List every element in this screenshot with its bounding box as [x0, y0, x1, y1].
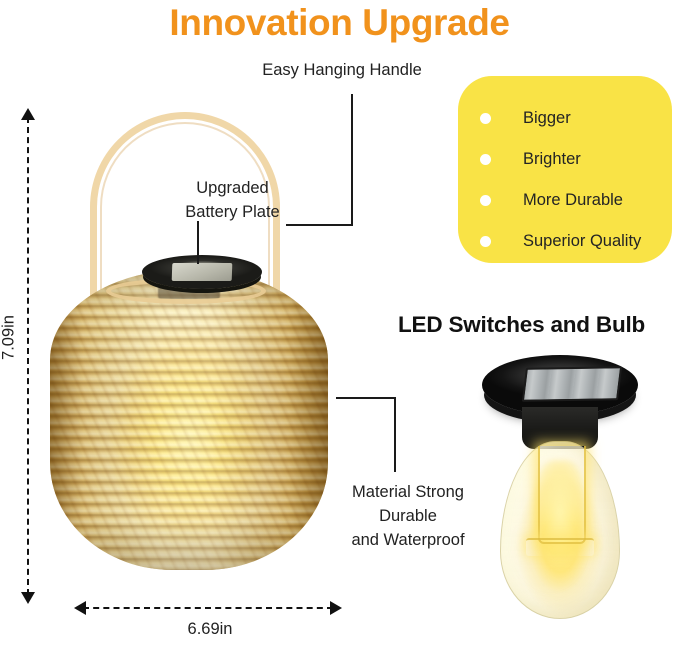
bullet-dot-icon [480, 195, 491, 206]
body-shading [50, 270, 328, 570]
solar-panel-cap [482, 355, 638, 415]
bullet-dot-icon [480, 113, 491, 124]
arrow-down-icon [21, 592, 35, 604]
infographic-canvas: Innovation Upgrade Easy Hanging Handle U… [0, 0, 679, 650]
bulb-filament-base [526, 538, 594, 556]
feature-label: Bigger [523, 109, 571, 128]
height-dimension-line [20, 108, 36, 604]
callout-upgraded-battery-plate: Upgraded Battery Plate [140, 176, 325, 224]
leader-line-hanging-handle-horizontal [286, 224, 353, 226]
feature-label: Brighter [523, 150, 581, 169]
bulb-filament [538, 446, 586, 544]
leader-line-hanging-handle-vertical [351, 94, 353, 226]
leader-line-battery-plate [197, 221, 199, 264]
led-bulb-unit-image [470, 355, 650, 635]
callout-easy-hanging-handle: Easy Hanging Handle [232, 58, 452, 82]
solar-cell-panel [522, 366, 622, 402]
feature-item-bigger: Bigger [458, 98, 672, 139]
leader-line-material-horizontal [336, 397, 396, 399]
bullet-dot-icon [480, 236, 491, 247]
bullet-dot-icon [480, 154, 491, 165]
page-title: Innovation Upgrade [0, 0, 679, 46]
dimension-shaft [83, 607, 333, 609]
dimension-shaft [27, 117, 29, 595]
arrow-right-icon [330, 601, 342, 615]
height-dimension-label: 7.09in [0, 308, 19, 368]
led-section-heading: LED Switches and Bulb [398, 312, 645, 338]
edison-bulb-glass [500, 441, 620, 619]
leader-line-material-vertical [394, 397, 396, 472]
width-dimension-label: 6.69in [140, 620, 280, 639]
feature-label: Superior Quality [523, 232, 641, 251]
feature-item-brighter: Brighter [458, 139, 672, 180]
feature-highlight-box: Bigger Brighter More Durable Superior Qu… [458, 76, 672, 263]
upgraded-battery-plate [142, 255, 262, 289]
feature-item-superior-quality: Superior Quality [458, 221, 672, 262]
feature-item-more-durable: More Durable [458, 180, 672, 221]
feature-label: More Durable [523, 191, 623, 210]
width-dimension-line [74, 600, 342, 616]
lantern-woven-body [50, 270, 328, 570]
